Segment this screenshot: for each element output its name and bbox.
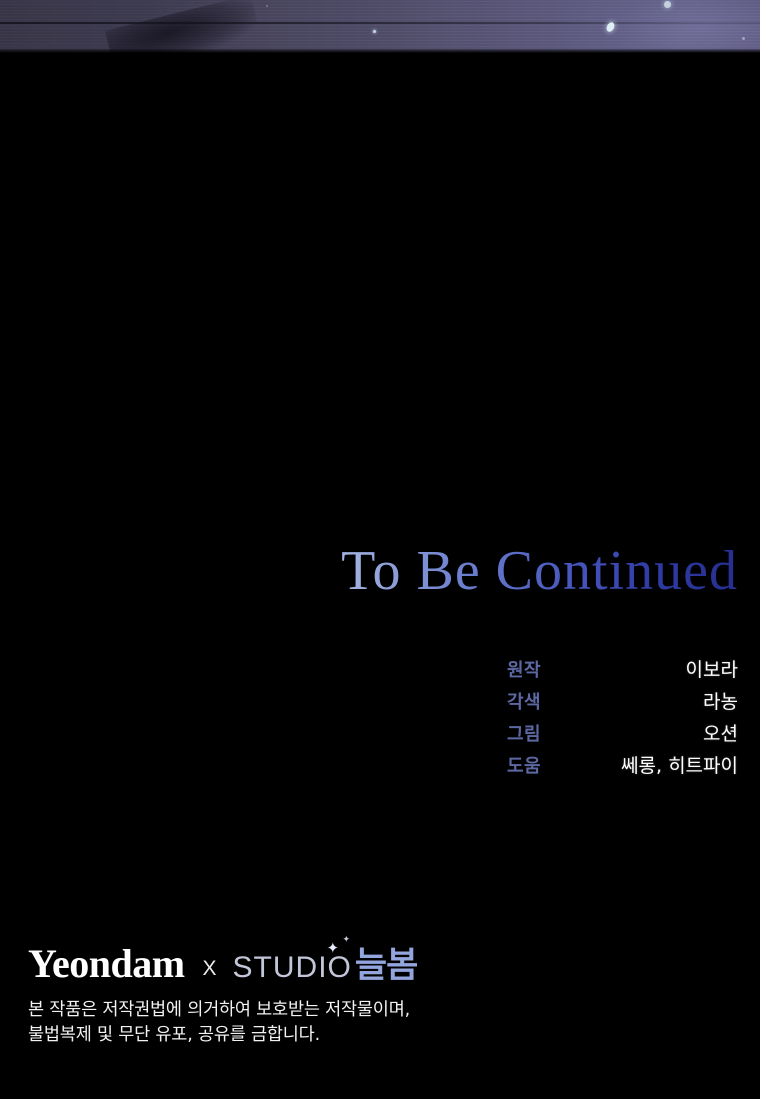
credit-role-label: 원작 <box>0 656 507 682</box>
footer: Yeondam X ✦ ✦ STUDIO 늘봄 본 작품은 저작권법에 의거하여… <box>28 938 732 1048</box>
sparkle-icon <box>373 30 376 33</box>
credit-role-label: 그림 <box>0 720 507 746</box>
credit-row: 그림 오션 <box>0 719 738 751</box>
sparkle-icon <box>742 37 745 40</box>
to-be-continued-text: To Be Continued <box>0 543 738 599</box>
publisher-logo-yeondam: Yeondam <box>28 944 185 984</box>
credit-role-label: 도움 <box>0 752 507 778</box>
logo-separator-x: X <box>203 958 217 979</box>
copyright-notice: 본 작품은 저작권법에 의거하여 보호받는 저작물이며, 불법복제 및 무단 유… <box>28 998 732 1048</box>
credit-row: 각색 라농 <box>0 687 738 719</box>
artwork-bottom-edge <box>0 49 760 53</box>
sparkle-icon: ✦ <box>343 935 351 944</box>
credit-name-value: 오션 <box>507 719 738 746</box>
studio-logo: ✦ ✦ STUDIO 늘봄 <box>233 949 418 984</box>
artwork-strip <box>0 0 760 53</box>
sparkle-icon <box>664 1 671 8</box>
logo-row: Yeondam X ✦ ✦ STUDIO 늘봄 <box>28 938 732 984</box>
artwork-glow <box>560 0 760 53</box>
credit-name-value: 쎄롱, 히트파이 <box>507 751 738 778</box>
credit-name-value: 라농 <box>507 687 738 714</box>
credit-role-label: 각색 <box>0 688 507 714</box>
studio-logo-prefix: STUDIO <box>233 953 352 983</box>
studio-logo-name: 늘봄 <box>355 949 417 984</box>
credit-row: 도움 쎄롱, 히트파이 <box>0 751 738 783</box>
webtoon-end-card-page: To Be Continued 원작 이보라 각색 라농 그림 오션 도움 쎄롱… <box>0 0 760 1099</box>
credit-row: 원작 이보라 <box>0 655 738 687</box>
credits-list: 원작 이보라 각색 라농 그림 오션 도움 쎄롱, 히트파이 <box>0 655 738 783</box>
sparkle-icon <box>266 5 268 7</box>
credit-name-value: 이보라 <box>507 655 738 682</box>
